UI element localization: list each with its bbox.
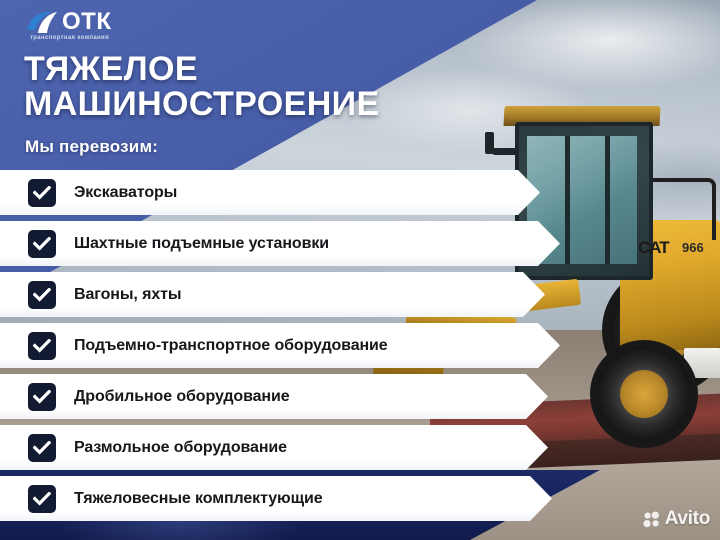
list-item[interactable]: Шахтные подъемные установки bbox=[0, 221, 720, 266]
checkmark-icon[interactable] bbox=[28, 434, 56, 462]
list-item-label: Вагоны, яхты bbox=[74, 286, 181, 304]
list-item[interactable]: Экскаваторы bbox=[0, 170, 720, 215]
services-checklist: ЭкскаваторыШахтные подъемные установкиВа… bbox=[0, 170, 720, 527]
page-title: ТЯЖЕЛОЕ МАШИНОСТРОЕНИЕ bbox=[24, 52, 494, 122]
avito-label: Avito bbox=[665, 508, 710, 530]
logo-wordmark: ОТК bbox=[62, 8, 111, 36]
title-line-2: МАШИНОСТРОЕНИЕ bbox=[24, 87, 494, 122]
side-mirror bbox=[492, 148, 518, 155]
checkmark-icon[interactable] bbox=[28, 383, 56, 411]
list-item[interactable]: Подъемно-транспортное оборудование bbox=[0, 323, 720, 368]
list-item-label: Дробильное оборудование bbox=[74, 388, 290, 406]
company-logo: ОТК транспортная компания bbox=[26, 8, 156, 44]
list-item-label: Шахтные подъемные установки bbox=[74, 235, 329, 253]
checkmark-icon[interactable] bbox=[28, 485, 56, 513]
logo-tagline: транспортная компания bbox=[30, 35, 109, 41]
checkmark-icon[interactable] bbox=[28, 179, 56, 207]
list-item-label: Подъемно-транспортное оборудование bbox=[74, 337, 388, 355]
list-item-label: Экскаваторы bbox=[74, 184, 177, 202]
checkmark-icon[interactable] bbox=[28, 230, 56, 258]
checkmark-icon[interactable] bbox=[28, 332, 56, 360]
avito-watermark: Avito bbox=[643, 508, 710, 530]
title-line-1: ТЯЖЕЛОЕ bbox=[24, 50, 198, 88]
subtitle: Мы перевозим: bbox=[25, 137, 158, 157]
list-item[interactable]: Вагоны, яхты bbox=[0, 272, 720, 317]
list-item[interactable]: Размольное оборудование bbox=[0, 425, 720, 470]
avito-circles-icon bbox=[643, 511, 660, 528]
checkmark-icon[interactable] bbox=[28, 281, 56, 309]
list-item-label: Размольное оборудование bbox=[74, 439, 287, 457]
list-item[interactable]: Тяжеловесные комплектующие bbox=[0, 476, 720, 521]
list-item[interactable]: Дробильное оборудование bbox=[0, 374, 720, 419]
promo-banner: CAT 966 ОТК транспортная компания ТЯЖЕЛО… bbox=[0, 0, 720, 540]
list-item-label: Тяжеловесные комплектующие bbox=[74, 490, 323, 508]
